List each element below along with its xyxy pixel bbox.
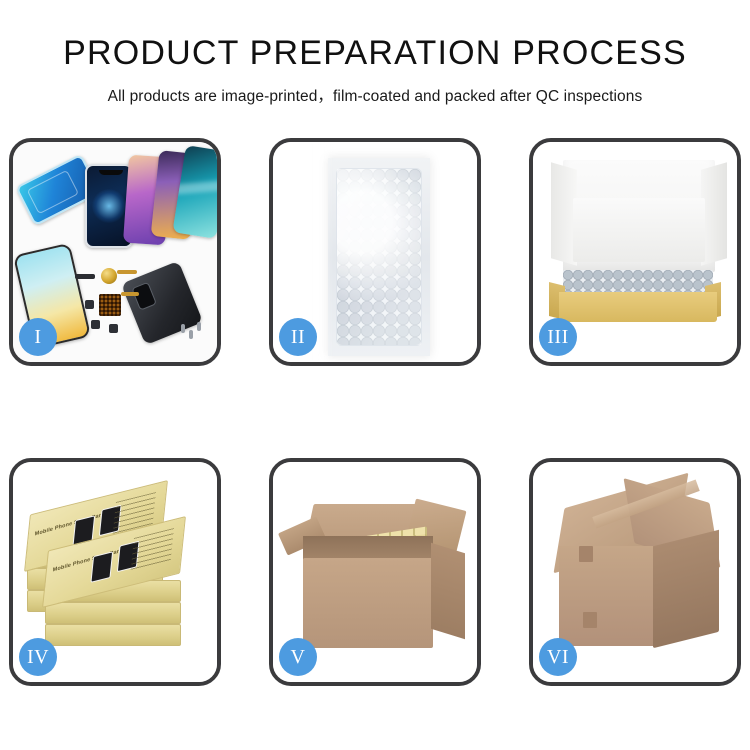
step-badge-1: I: [19, 318, 57, 356]
bubble-wrap-sheet: [328, 158, 430, 356]
part-ic-c: [109, 324, 118, 333]
part-ic-b: [91, 320, 100, 329]
stacked-box-5: [45, 602, 181, 624]
part-screw-b: [189, 330, 193, 339]
step-badge-5: V: [279, 638, 317, 676]
process-step-2: II: [269, 138, 481, 366]
part-chip: [99, 294, 121, 316]
part-screw-a: [181, 324, 185, 333]
inner-box-front-panel: [559, 292, 717, 322]
carton-tab-upper: [579, 546, 593, 562]
product-preparation-infographic: PRODUCT PREPARATION PROCESS All products…: [0, 0, 750, 750]
page-title: PRODUCT PREPARATION PROCESS: [0, 36, 750, 72]
part-connector: [75, 274, 95, 279]
part-ic-a: [85, 300, 94, 309]
step-badge-4: IV: [19, 638, 57, 676]
sealed-carton-side-face: [653, 530, 719, 648]
box-window-b1: [90, 551, 113, 583]
process-step-6: VI: [529, 458, 741, 686]
step-badge-3: III: [539, 318, 577, 356]
process-step-3: III: [529, 138, 741, 366]
page-subtitle: All products are image-printed，film-coat…: [0, 84, 750, 106]
box-label-text-a: Mobile Phone Spare Parts: [35, 511, 107, 537]
box-spec-lines-b: [130, 528, 174, 573]
part-flex-cable-b: [121, 292, 139, 296]
step-badge-6: VI: [539, 638, 577, 676]
carton-front-face: [303, 558, 433, 648]
bubble-wrap-bubbles: [336, 168, 422, 346]
part-coil: [101, 268, 117, 284]
inner-box-foam: [573, 198, 705, 262]
part-flex-cable-a: [117, 270, 137, 274]
box-label-text-b: Mobile Phone Spare Parts: [53, 547, 125, 573]
step-badge-2: II: [279, 318, 317, 356]
process-step-4: Mobile Phone Spare Parts Mobile Phone Sp…: [9, 458, 221, 686]
carton-side-face: [431, 543, 465, 639]
process-step-grid: I II III: [9, 138, 741, 686]
part-screw-c: [197, 322, 201, 331]
process-step-1: I: [9, 138, 221, 366]
header: PRODUCT PREPARATION PROCESS All products…: [0, 0, 750, 106]
stacked-box-6: [45, 624, 181, 646]
process-step-5: V: [269, 458, 481, 686]
sealed-carton-front-face: [559, 546, 655, 646]
wrap-highlight: [313, 142, 333, 362]
carton-tab-lower: [583, 612, 597, 628]
